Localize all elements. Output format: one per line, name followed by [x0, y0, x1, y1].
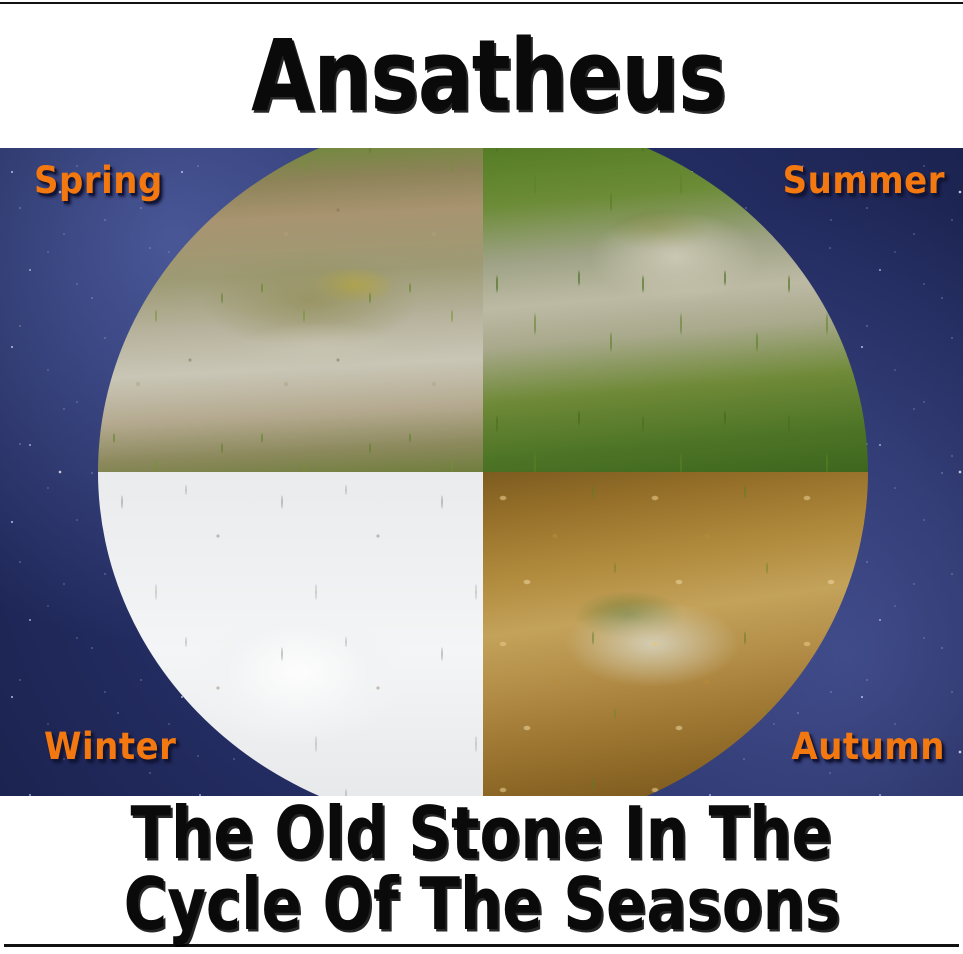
title-band: Ansatheus [0, 4, 963, 148]
caption-line-2: Cycle Of The Seasons [123, 869, 840, 942]
season-label-summer: Summer [783, 162, 945, 199]
season-label-autumn: Autumn [791, 728, 945, 765]
page-title: Ansatheus [237, 26, 725, 125]
poster: Ansatheus Spring Summer Winter Autumn [0, 0, 963, 954]
caption-line-1: The Old Stone In The [131, 798, 832, 871]
photo-ellipse-mask [98, 148, 868, 796]
season-label-spring: Spring [34, 162, 163, 199]
caption-band: The Old Stone In The Cycle Of The Season… [0, 796, 963, 944]
seasons-collage: Spring Summer Winter Autumn [0, 148, 963, 796]
season-label-winter: Winter [44, 728, 176, 765]
